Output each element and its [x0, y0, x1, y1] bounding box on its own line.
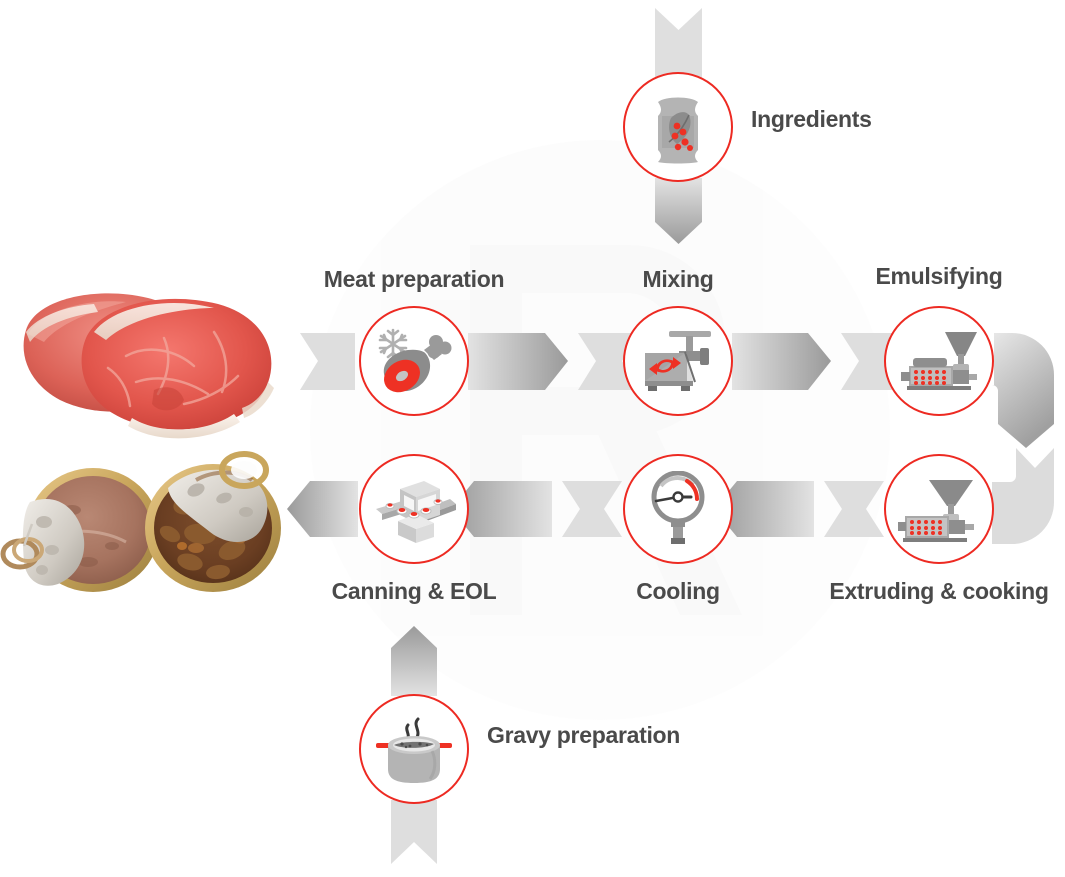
canning-machine-icon [372, 471, 456, 547]
node-extruding-cooking-circle[interactable] [884, 454, 994, 564]
emulsifier-icon [897, 326, 981, 396]
gravy-pot-icon [374, 711, 454, 787]
node-cooling-label: Cooling [636, 578, 720, 605]
gauge-icon [647, 471, 709, 547]
node-emulsifying-circle[interactable] [884, 306, 994, 416]
node-gravy-preparation-circle[interactable] [359, 694, 469, 804]
node-canning-eol-circle[interactable] [359, 454, 469, 564]
node-meat-preparation-circle[interactable] [359, 306, 469, 416]
ingredient-sack-icon [645, 90, 711, 164]
node-emulsifying-label: Emulsifying [875, 263, 1002, 290]
node-mixing-label: Mixing [642, 266, 713, 293]
mixer-icon [639, 327, 717, 395]
node-cooling-circle[interactable] [623, 454, 733, 564]
frozen-ham-icon [376, 326, 452, 396]
node-ingredients-label: Ingredients [751, 106, 872, 133]
node-ingredients-circle[interactable] [623, 72, 733, 182]
process-flow-diagram: Ingredients Meat preparation [0, 0, 1065, 872]
node-gravy-preparation-label: Gravy preparation [487, 722, 680, 749]
node-meat-preparation-label: Meat preparation [324, 266, 505, 293]
node-mixing-circle[interactable] [623, 306, 733, 416]
extruder-icon [897, 474, 981, 544]
node-extruding-cooking-label: Extruding & cooking [829, 578, 1048, 605]
node-canning-eol-label: Canning & EOL [332, 578, 497, 605]
process-nodes: Ingredients Meat preparation [0, 0, 1065, 872]
